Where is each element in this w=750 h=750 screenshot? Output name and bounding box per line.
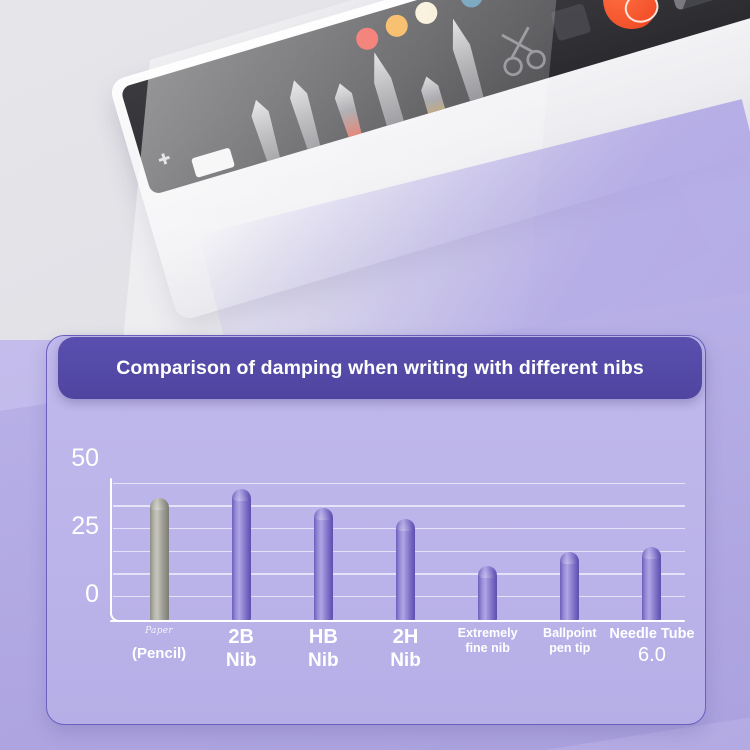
x-axis-label-line2: pen tip bbox=[543, 641, 596, 655]
x-axis-label-line2: fine nib bbox=[458, 641, 518, 655]
bar bbox=[396, 519, 415, 620]
x-axis-label: Ballpointpen tip bbox=[543, 626, 596, 655]
x-axis-label: Extremelyfine nib bbox=[458, 626, 518, 655]
bar-chart-plot: 02550 bbox=[110, 480, 685, 622]
title-banner: Comparison of damping when writing with … bbox=[58, 337, 702, 399]
bar bbox=[232, 489, 251, 620]
x-axis-label-line1: 2H bbox=[390, 626, 421, 649]
x-axis-label-line1: Ballpoint bbox=[543, 626, 596, 640]
bar bbox=[314, 508, 333, 620]
bar-column bbox=[560, 552, 579, 620]
bar-group bbox=[110, 480, 685, 620]
x-axis-label: 2BNib bbox=[226, 626, 257, 672]
x-axis-label-line2: Nib bbox=[226, 650, 257, 672]
bar-highlight bbox=[314, 508, 333, 520]
mountain-icon bbox=[675, 0, 721, 9]
product-photo: ✚ bbox=[0, 0, 750, 352]
bar bbox=[642, 547, 661, 620]
x-axis-label: HBNib bbox=[308, 626, 339, 672]
x-label-group: Paper(Pencil)2BNibHBNib2HNibExtremelyfin… bbox=[110, 626, 685, 692]
color-swatch-blue[interactable] bbox=[458, 0, 485, 10]
bar bbox=[478, 566, 497, 620]
x-axis-label-line2: Nib bbox=[308, 650, 339, 672]
x-axis-label-line2: (Pencil) bbox=[132, 645, 186, 662]
x-axis-label-line1: Needle Tube bbox=[609, 626, 694, 642]
x-axis-label-line1: Paper bbox=[132, 626, 186, 636]
x-axis-label-line1: Extremely bbox=[458, 626, 518, 640]
bar-highlight bbox=[150, 498, 169, 510]
y-axis-tick-label: 0 bbox=[85, 582, 99, 607]
bar-column bbox=[232, 489, 251, 620]
bar-column bbox=[642, 547, 661, 620]
x-axis-label-line2: Nib bbox=[390, 650, 421, 672]
x-axis-label: Needle Tube6.0 bbox=[609, 626, 694, 667]
bar-highlight bbox=[642, 547, 661, 559]
x-axis-label: Paper(Pencil) bbox=[132, 626, 186, 662]
bar bbox=[150, 498, 169, 620]
y-axis-tick-label: 50 bbox=[71, 446, 99, 471]
y-axis-tick-label: 25 bbox=[71, 514, 99, 539]
bar-highlight bbox=[560, 552, 579, 564]
bar-highlight bbox=[232, 489, 251, 501]
bar-column bbox=[150, 498, 169, 620]
color-swatch-orange[interactable] bbox=[383, 12, 410, 39]
scissors-tool[interactable] bbox=[488, 19, 555, 81]
bar-highlight bbox=[396, 519, 415, 531]
bar-column bbox=[396, 519, 415, 620]
color-swatch-cream[interactable] bbox=[413, 0, 440, 27]
bar-column bbox=[478, 566, 497, 620]
x-axis-label-line1: 2B bbox=[226, 626, 257, 649]
image-thumbnail[interactable] bbox=[660, 0, 733, 11]
color-swatch-red[interactable] bbox=[354, 25, 381, 52]
page-title: Comparison of damping when writing with … bbox=[116, 357, 644, 380]
bar-highlight bbox=[478, 566, 497, 578]
bar-column bbox=[314, 508, 333, 620]
bar bbox=[560, 552, 579, 620]
x-axis-label: 2HNib bbox=[390, 626, 421, 672]
x-axis-label-line2: 6.0 bbox=[609, 644, 694, 667]
card-tool[interactable] bbox=[550, 3, 591, 41]
add-icon[interactable]: ✚ bbox=[156, 151, 172, 169]
x-axis-label-line1: HB bbox=[308, 626, 339, 649]
